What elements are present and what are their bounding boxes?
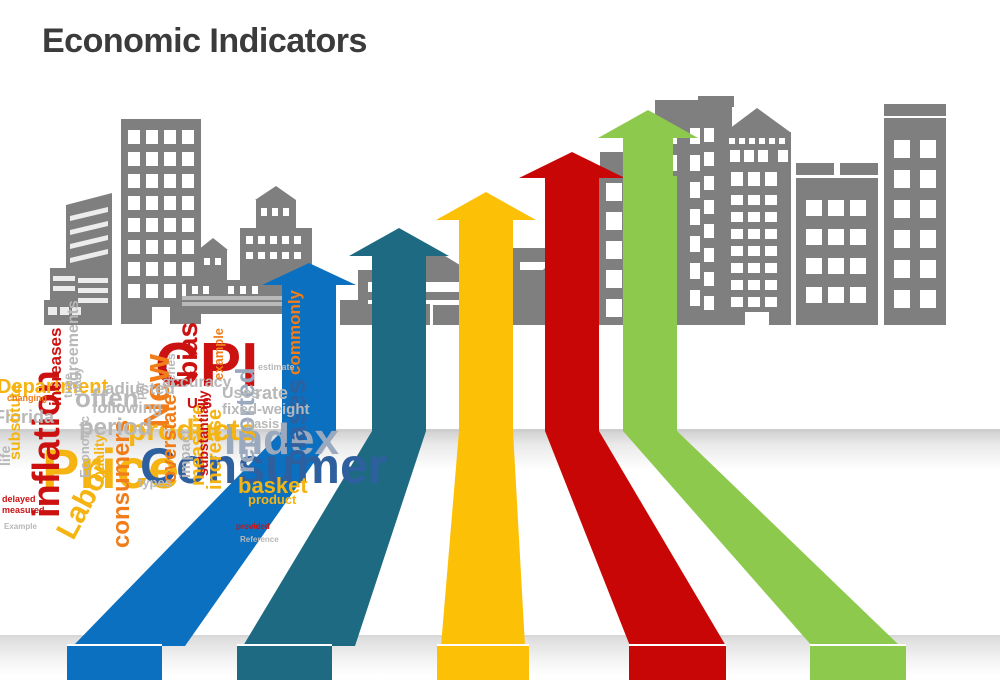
poster-canvas: CPIPriceConsumerIndexinflationNewproduct… xyxy=(0,0,1000,700)
page-title: Economic Indicators xyxy=(42,22,367,61)
title-layer: Economic Indicators xyxy=(0,0,1000,700)
